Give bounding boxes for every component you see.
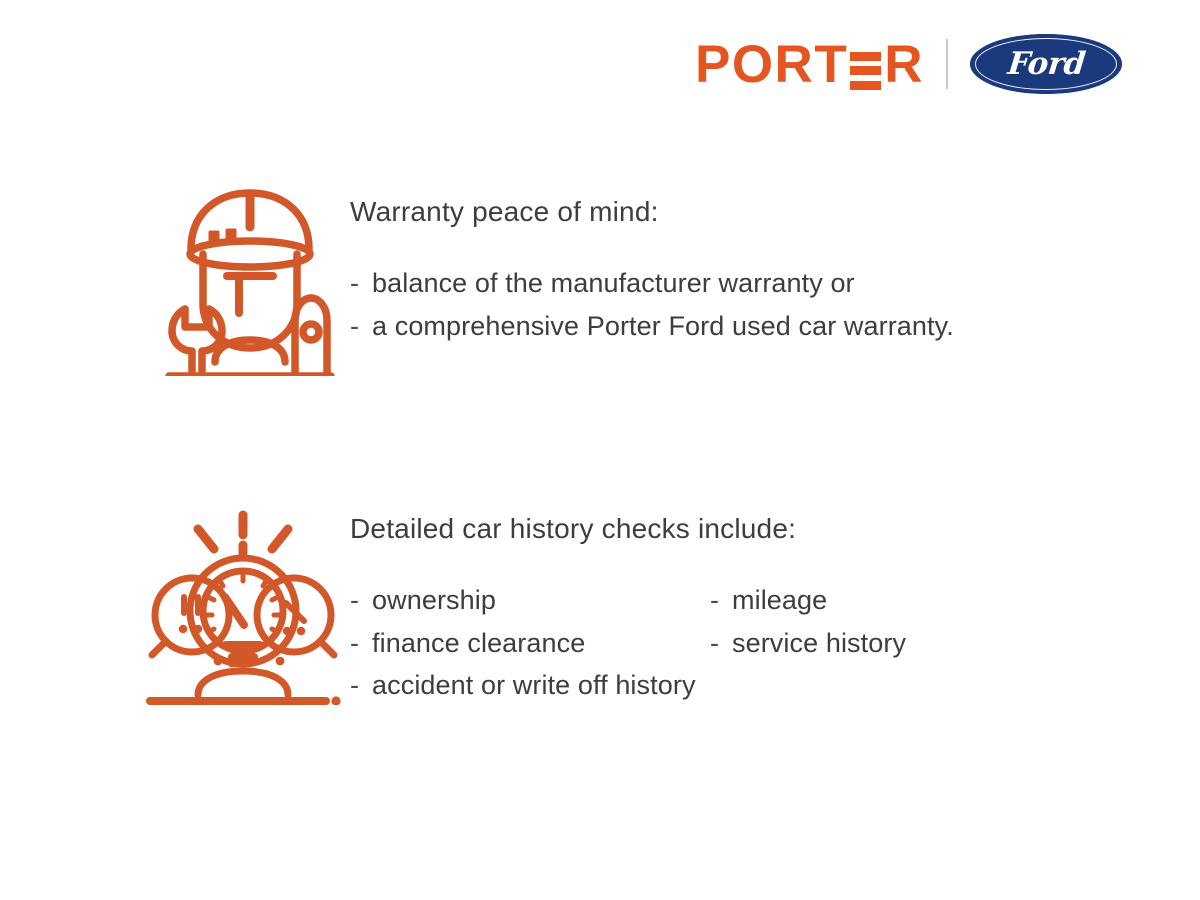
bullet-marker: - (350, 672, 372, 699)
history-bullet-row: - ownership - mileage (350, 583, 906, 619)
brand-divider (946, 39, 948, 89)
history-bullet-list: - ownership - mileage - finance clearanc… (350, 583, 906, 704)
warranty-bullet-list: - balance of the manufacturer warranty o… (350, 266, 954, 344)
dashboard-gauges-icon (135, 505, 350, 705)
brand-lockup: PORT R Ford (695, 34, 1122, 94)
history-bullet-item: - service history (710, 626, 906, 662)
porter-logo: PORT R (695, 38, 924, 91)
history-bullet-row: - accident or write off history (350, 668, 906, 704)
bullet-label: a comprehensive Porter Ford used car war… (372, 309, 954, 345)
ford-logo-text: Ford (1006, 46, 1087, 82)
bullet-marker: - (350, 587, 372, 614)
bullet-label: accident or write off history (372, 668, 696, 704)
porter-logo-bar-e-glyph (850, 52, 881, 90)
bullet-label: finance clearance (372, 626, 585, 662)
bullet-label: ownership (372, 583, 496, 619)
mechanic-icon (150, 180, 350, 376)
bullet-label: service history (732, 626, 906, 662)
dashboard-gauges-icon-glyph (140, 505, 345, 705)
history-bullet-row: - finance clearance - service history (350, 626, 906, 662)
history-bullet-item: - finance clearance (350, 626, 710, 662)
bar-e-bottom (850, 81, 881, 90)
history-bullet-item: - accident or write off history (350, 668, 696, 704)
section-warranty: Warranty peace of mind: - balance of the… (150, 180, 954, 376)
porter-logo-text-part2: R (884, 38, 924, 91)
history-bullet-item: - mileage (710, 583, 827, 619)
bullet-marker: - (710, 587, 732, 614)
history-text: Detailed car history checks include: - o… (350, 505, 906, 711)
ford-logo: Ford (970, 34, 1122, 94)
history-heading: Detailed car history checks include: (350, 513, 906, 545)
warranty-text: Warranty peace of mind: - balance of the… (350, 180, 954, 351)
bullet-label: mileage (732, 583, 827, 619)
warranty-bullet-item: - balance of the manufacturer warranty o… (350, 266, 954, 302)
porter-logo-text-part1: PORT (695, 38, 848, 91)
warranty-heading: Warranty peace of mind: (350, 196, 954, 228)
bullet-marker: - (350, 313, 372, 340)
warranty-bullet-item: - a comprehensive Porter Ford used car w… (350, 309, 954, 345)
bullet-marker: - (350, 270, 372, 297)
section-history: Detailed car history checks include: - o… (135, 505, 906, 711)
bar-e-top (850, 52, 881, 61)
bullet-label: balance of the manufacturer warranty or (372, 266, 855, 302)
history-bullet-item: - ownership (350, 583, 710, 619)
bullet-marker: - (710, 630, 732, 657)
bar-e-middle (850, 66, 881, 75)
bullet-marker: - (350, 630, 372, 657)
mechanic-icon-glyph (155, 180, 345, 376)
